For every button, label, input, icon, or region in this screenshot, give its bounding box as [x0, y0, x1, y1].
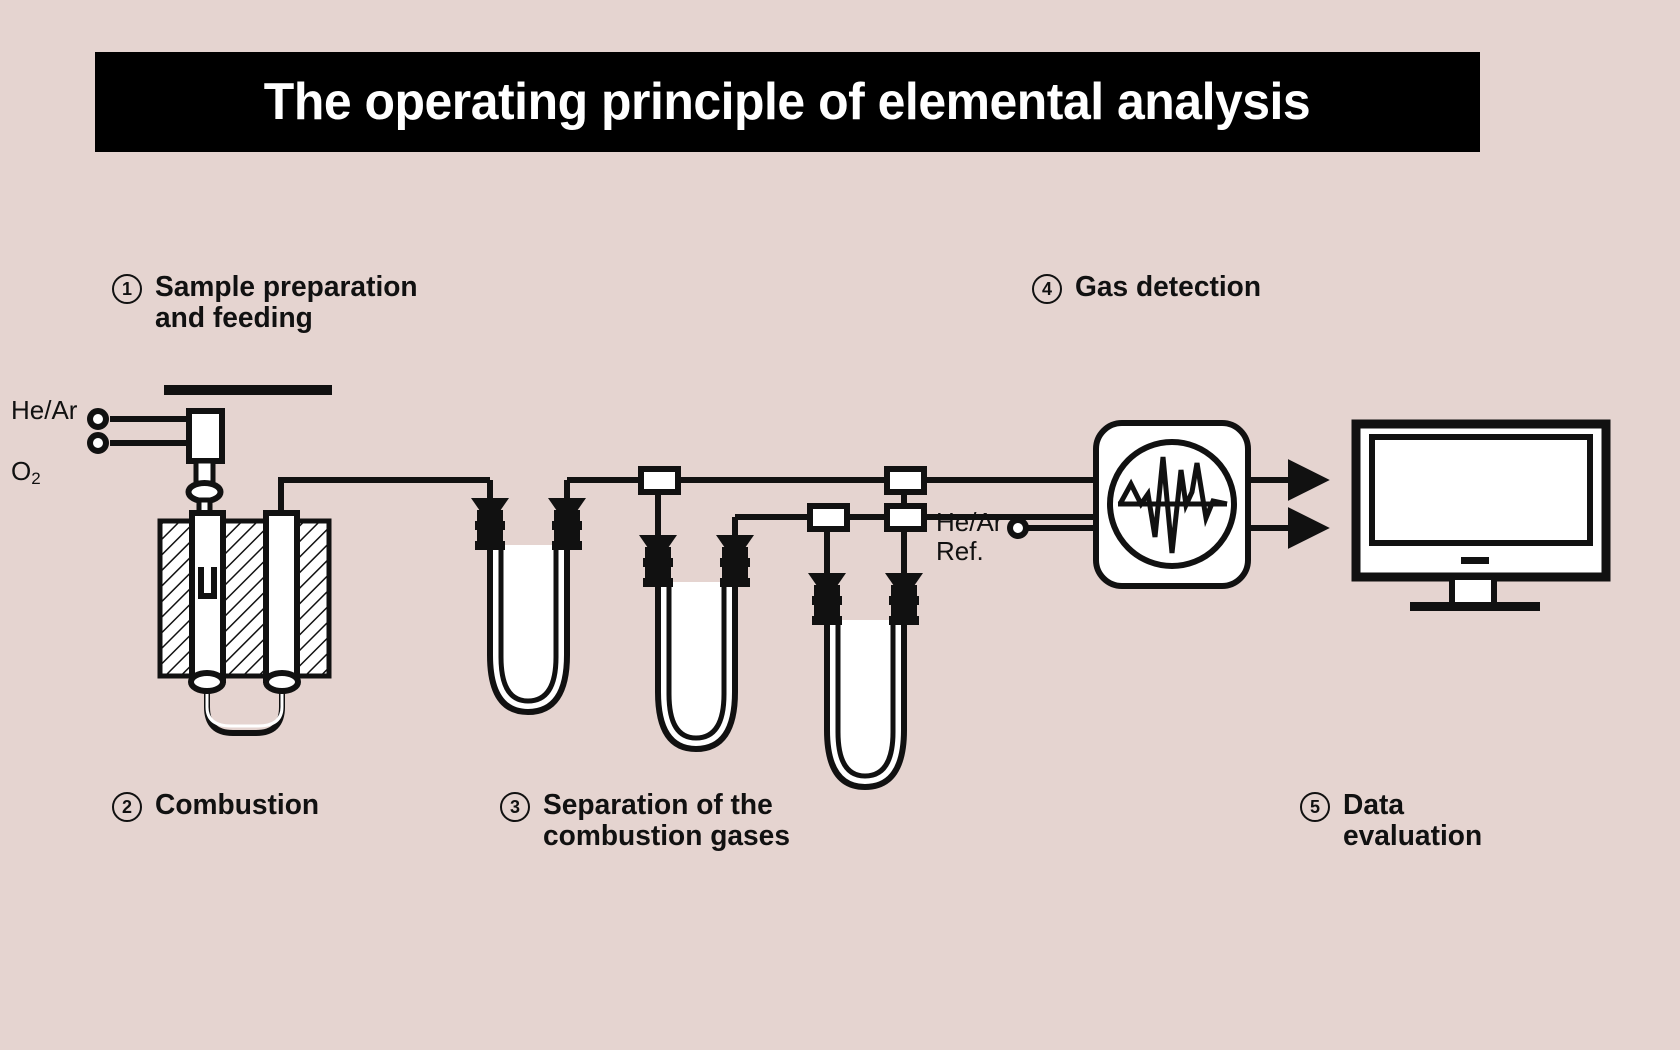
oxygen-symbol: O — [11, 456, 31, 486]
feeder-valve-block — [189, 411, 222, 461]
step-label-combustion: 2 Combustion — [112, 790, 324, 822]
monitor-power-led — [1461, 557, 1489, 564]
step-number-3: 3 — [500, 792, 530, 822]
gas-terminal-o2 — [90, 435, 106, 451]
sample-feeder-assembly — [90, 385, 332, 524]
step-number-5: 5 — [1300, 792, 1330, 822]
process-schematic — [0, 0, 1680, 1050]
gas-inlet-label-carrier: He/Ar — [11, 396, 77, 425]
step-text-5: Data evaluation — [1343, 790, 1482, 853]
furnace-block-3 — [297, 521, 329, 676]
monitor-screen[interactable] — [1372, 437, 1590, 543]
separation-columns-assembly — [471, 469, 1108, 787]
valve-2[interactable] — [810, 506, 847, 529]
gas-terminal-hear — [90, 411, 106, 427]
furnace-outlet-line — [281, 480, 490, 513]
combustion-furnace-assembly — [160, 480, 490, 733]
gas-detector-assembly — [1010, 423, 1295, 586]
feeder-neck — [196, 461, 213, 483]
oxygen-subscript: 2 — [31, 469, 40, 488]
step-number-1: 1 — [112, 274, 142, 304]
step-text-4: Gas detection — [1075, 272, 1261, 303]
reduction-tube — [266, 513, 297, 680]
monitor-stand-base — [1410, 602, 1540, 611]
furnace-block-2 — [222, 521, 266, 676]
step-number-2: 2 — [112, 792, 142, 822]
valve-1[interactable] — [641, 469, 678, 492]
step-text-1: Sample preparation and feeding — [155, 272, 418, 335]
reference-gas-label: He/Ar Ref. — [936, 508, 1002, 565]
monitor-assembly — [1356, 424, 1606, 611]
monitor-stand-neck — [1452, 577, 1494, 605]
diagram-canvas: The operating principle of elemental ana… — [0, 0, 1680, 1050]
valve-3[interactable] — [887, 469, 924, 492]
furnace-block-1 — [160, 521, 194, 676]
step-label-data-evaluation: 5 Data evaluation — [1300, 790, 1486, 853]
gas-inlet-label-oxygen: O2 — [11, 428, 41, 488]
step-label-sample-preparation: 1 Sample preparation and feeding — [112, 272, 426, 335]
step-text-2: Combustion — [155, 790, 319, 821]
step-label-gas-detection: 4 Gas detection — [1032, 272, 1267, 304]
step-number-4: 4 — [1032, 274, 1062, 304]
feeder-rail — [164, 385, 332, 395]
reference-gas-terminal — [1010, 520, 1026, 536]
step-label-separation: 3 Separation of the combustion gases — [500, 790, 798, 853]
step-text-3: Separation of the combustion gases — [543, 790, 790, 853]
valve-4[interactable] — [887, 506, 924, 529]
